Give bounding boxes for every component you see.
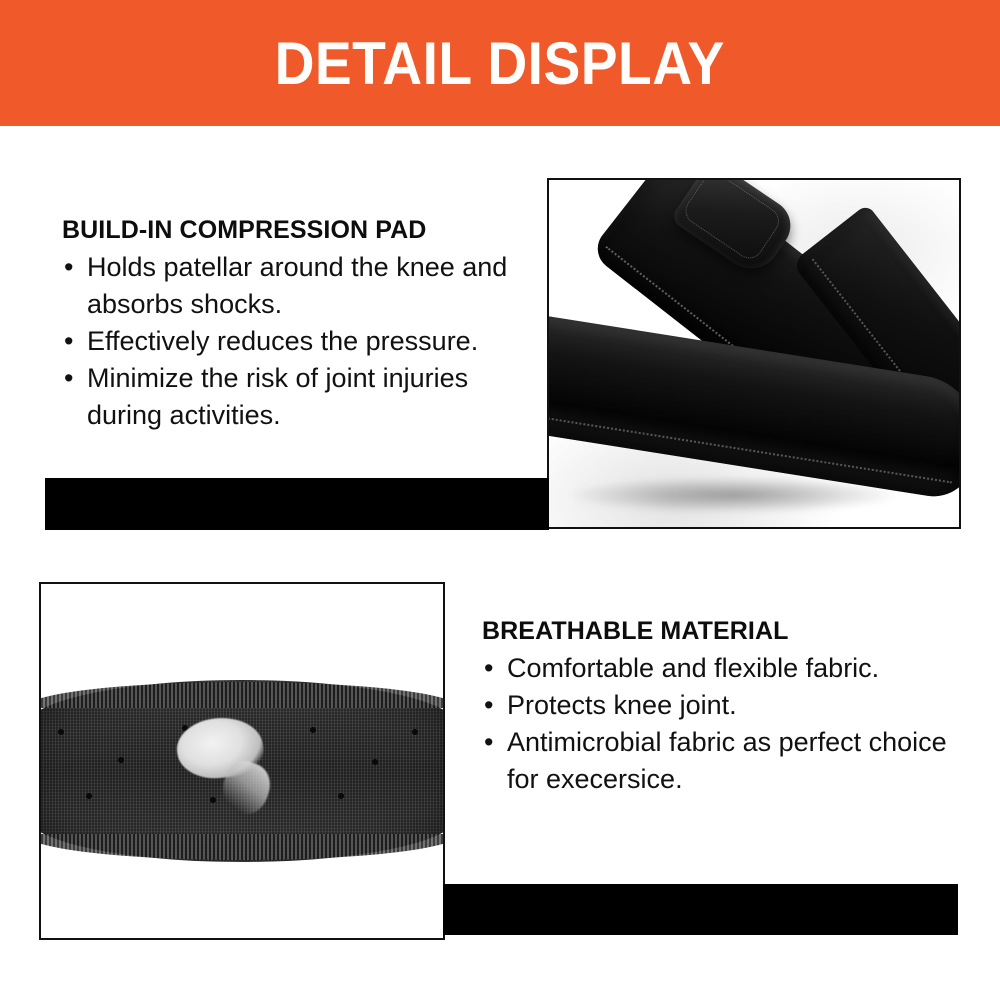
list-item-text: Holds patellar around the knee and absor…: [87, 252, 507, 319]
upper-black-bar: [45, 478, 549, 530]
list-item: • Protects knee joint.: [482, 687, 952, 724]
lower-black-bar: [443, 884, 958, 935]
feature-bullet-list-compression-pad: • Holds patellar around the knee and abs…: [62, 249, 532, 434]
bullet-dot-icon: •: [484, 650, 493, 687]
bullet-dot-icon: •: [64, 249, 73, 286]
bullet-dot-icon: •: [64, 323, 73, 360]
list-item: • Minimize the risk of joint injuries du…: [62, 360, 532, 434]
list-item-text: Minimize the risk of joint injuries duri…: [87, 363, 468, 430]
list-item-text: Protects knee joint.: [507, 690, 737, 720]
feature-block-breathable-material: BREATHABLE MATERIAL • Comfortable and fl…: [482, 616, 952, 798]
detail-display-banner: DETAIL DISPLAY: [0, 0, 1000, 126]
feature-bullet-list-breathable-material: • Comfortable and flexible fabric. • Pro…: [482, 650, 952, 798]
breathable-fabric-photo-canvas: [41, 584, 443, 938]
feature-block-compression-pad: BUILD-IN COMPRESSION PAD • Holds patella…: [62, 215, 532, 434]
list-item: • Effectively reduces the pressure.: [62, 323, 532, 360]
page-title: DETAIL DISPLAY: [275, 34, 725, 94]
feature-heading-breathable-material: BREATHABLE MATERIAL: [482, 616, 952, 646]
bullet-dot-icon: •: [484, 724, 493, 761]
bullet-dot-icon: •: [64, 360, 73, 397]
list-item: • Comfortable and flexible fabric.: [482, 650, 952, 687]
breathable-fabric-illustration: [41, 584, 443, 938]
list-item-text: Effectively reduces the pressure.: [87, 326, 478, 356]
knee-strap-photo: [547, 178, 961, 529]
feature-heading-compression-pad: BUILD-IN COMPRESSION PAD: [62, 215, 532, 245]
knee-strap-illustration: [549, 180, 959, 527]
list-item: • Antimicrobial fabric as perfect choice…: [482, 724, 952, 798]
knee-strap-photo-canvas: [549, 180, 959, 527]
bullet-dot-icon: •: [484, 687, 493, 724]
breathable-fabric-photo: [39, 582, 445, 940]
list-item-text: Antimicrobial fabric as perfect choice f…: [507, 727, 947, 794]
list-item: • Holds patellar around the knee and abs…: [62, 249, 532, 323]
list-item-text: Comfortable and flexible fabric.: [507, 653, 879, 683]
